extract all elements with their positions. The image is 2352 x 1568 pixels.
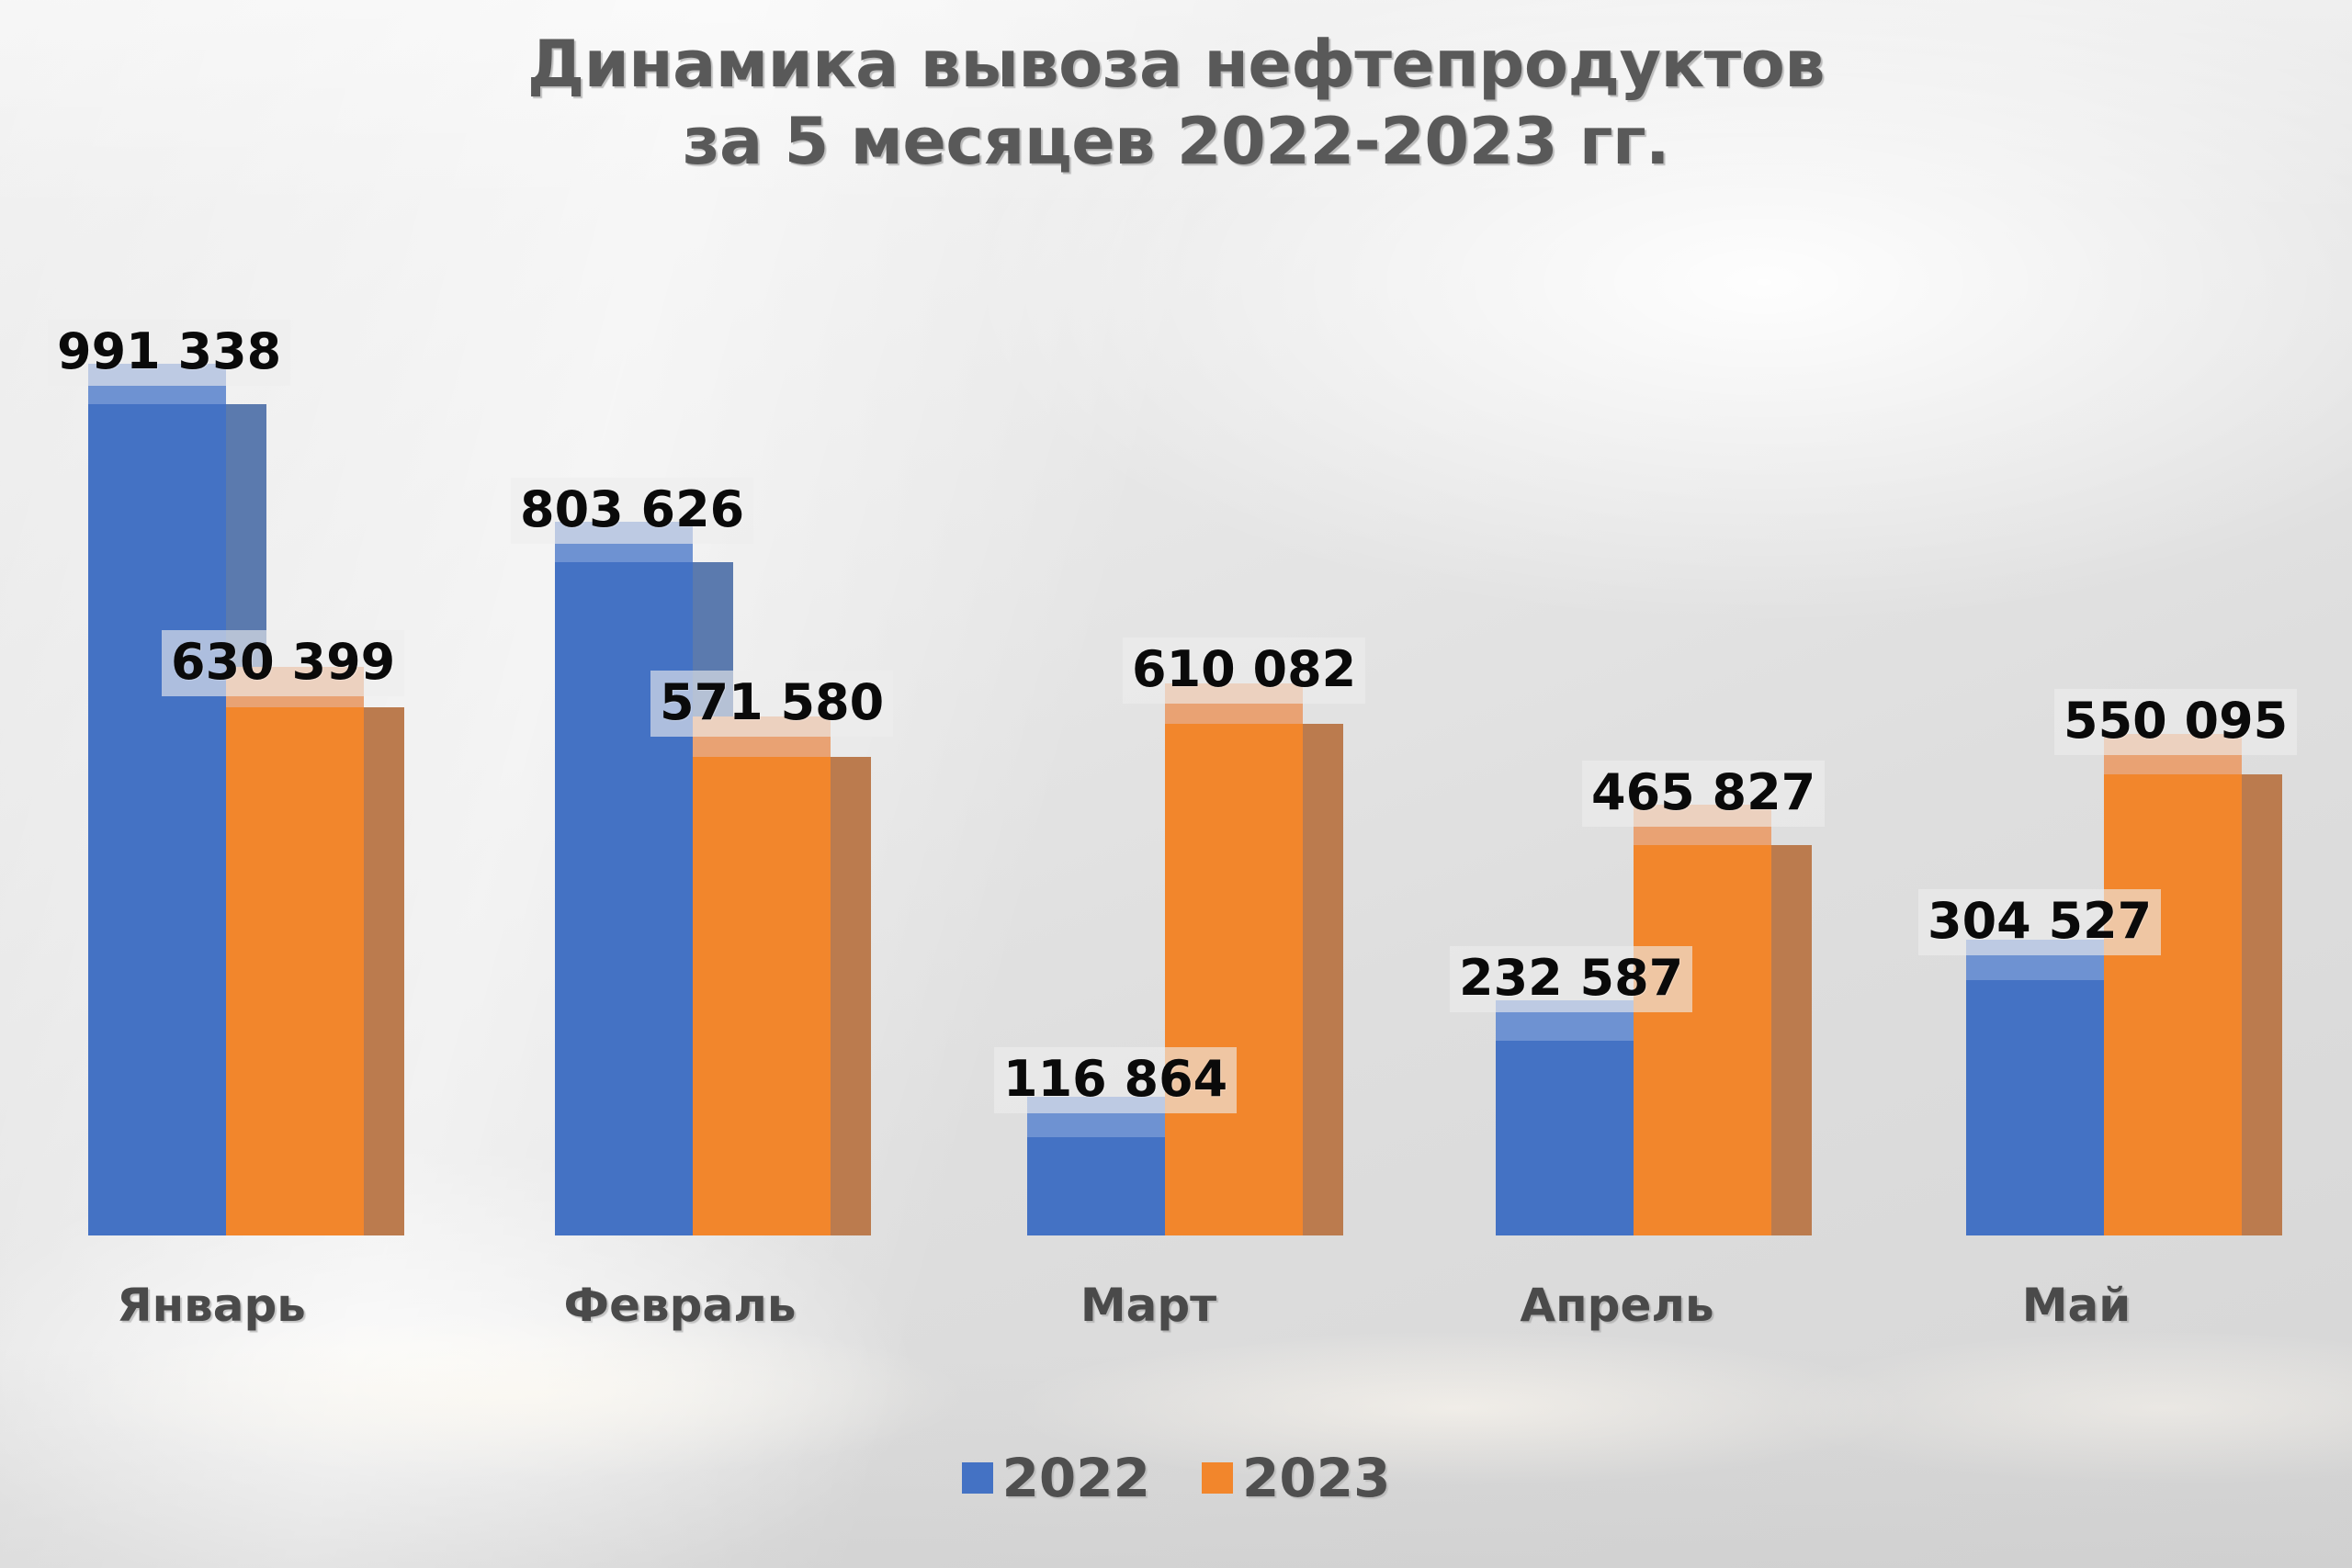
value-label-jan-2022: 991 338 — [48, 320, 290, 386]
legend-label-2023: 2023 — [1242, 1450, 1390, 1506]
bar-side-face — [364, 707, 404, 1235]
legend-swatch-blue-icon — [962, 1462, 993, 1494]
bar-apr-2022[interactable] — [1496, 1041, 1634, 1235]
value-label-apr-2023: 465 827 — [1582, 761, 1825, 827]
bar-side-face — [831, 757, 871, 1235]
bar-side-face — [1303, 724, 1343, 1235]
value-label-feb-2022: 803 626 — [511, 478, 753, 544]
chart-legend: 2022 2023 — [0, 1450, 2352, 1506]
bar-side-face — [2242, 774, 2282, 1235]
category-label-apr: Апрель — [1387, 1279, 1847, 1332]
bar-jan-2022[interactable] — [88, 404, 226, 1235]
bar-may-2023[interactable] — [2104, 774, 2242, 1235]
bar-front-face — [1165, 724, 1303, 1235]
bar-feb-2023[interactable] — [693, 757, 831, 1235]
chart-plot-area: 991 338 630 399 Январь 803 626 571 580 Ф… — [0, 0, 2352, 1568]
legend-item-2023[interactable]: 2023 — [1202, 1450, 1390, 1506]
legend-item-2022[interactable]: 2022 — [962, 1450, 1150, 1506]
legend-swatch-orange-icon — [1202, 1462, 1233, 1494]
value-label-apr-2022: 232 587 — [1450, 946, 1692, 1012]
bar-feb-2022[interactable] — [555, 562, 693, 1235]
bar-front-face — [88, 404, 226, 1235]
chart-title-line-2: за 5 месяцев 2022-2023 гг. — [0, 103, 2352, 180]
chart-title-line-1: Динамика вывоза нефтепродуктов — [0, 26, 2352, 103]
value-label-mar-2022: 116 864 — [994, 1047, 1237, 1113]
bar-front-face — [1496, 1041, 1634, 1235]
bar-side-face — [1771, 845, 1812, 1235]
bar-may-2022[interactable] — [1966, 980, 2104, 1235]
bar-jan-2023[interactable] — [226, 707, 364, 1235]
chart-title: Динамика вывоза нефтепродуктов за 5 меся… — [0, 26, 2352, 180]
bar-front-face — [693, 757, 831, 1235]
bar-mar-2023[interactable] — [1165, 724, 1303, 1235]
value-label-may-2023: 550 095 — [2054, 689, 2297, 755]
category-label-mar: Март — [919, 1279, 1378, 1332]
bar-apr-2023[interactable] — [1634, 845, 1771, 1235]
bar-mar-2022[interactable] — [1027, 1137, 1165, 1235]
bar-front-face — [2104, 774, 2242, 1235]
category-label-may: Май — [1847, 1279, 2306, 1332]
value-label-jan-2023: 630 399 — [162, 630, 404, 696]
bar-front-face — [1966, 980, 2104, 1235]
bar-front-face — [1634, 845, 1771, 1235]
category-label-feb: Февраль — [450, 1279, 910, 1332]
bar-front-face — [226, 707, 364, 1235]
bar-front-face — [1027, 1137, 1165, 1235]
category-label-jan: Январь — [0, 1279, 423, 1332]
bar-front-face — [555, 562, 693, 1235]
value-label-may-2022: 304 527 — [1918, 889, 2161, 955]
value-label-feb-2023: 571 580 — [650, 671, 893, 737]
legend-label-2022: 2022 — [1002, 1450, 1150, 1506]
value-label-mar-2023: 610 082 — [1123, 637, 1365, 704]
